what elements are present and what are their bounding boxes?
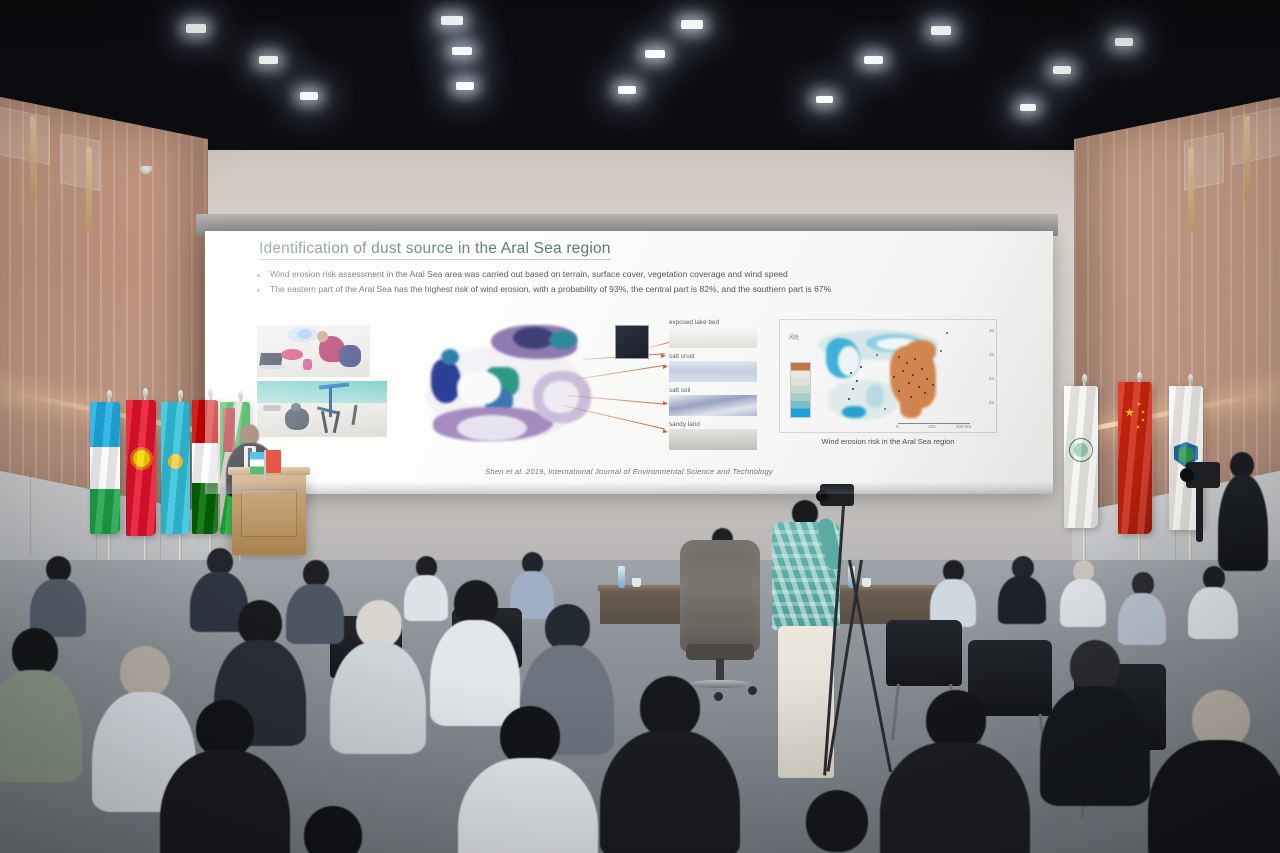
high-risk-zone [906, 340, 936, 362]
map-region [441, 349, 459, 365]
flag-kyrgyzstan [126, 400, 156, 536]
audience-member-foreground [458, 706, 598, 853]
attendee-head [640, 676, 700, 738]
camera-lens-icon [1180, 468, 1194, 482]
dark-sample-swatch [615, 325, 649, 359]
water-bottle [618, 566, 625, 588]
audience-member-foreground [760, 790, 910, 853]
flag-fold-shading [126, 400, 156, 536]
attendee-head [120, 646, 170, 698]
audience-member-foreground [430, 580, 520, 720]
ceiling-light [186, 24, 206, 33]
audience-chair [886, 620, 962, 686]
attendee-torso [1060, 579, 1106, 627]
pointer-arrow-head [663, 401, 668, 405]
audience-member [930, 560, 976, 624]
attendee-torso [1188, 587, 1238, 639]
map-color-legend [790, 362, 811, 418]
photo-detail [285, 408, 309, 430]
attendee-head [1070, 640, 1120, 692]
secondary-site-dot [946, 332, 948, 334]
ceiling-light [816, 96, 833, 103]
aral-sea-classified-map [413, 319, 603, 467]
water-cup [862, 578, 871, 587]
flag-kazakhstan [161, 402, 190, 534]
map-scale-tick: 200 km [956, 424, 971, 429]
sample-image-exposed-lake-bed [669, 327, 757, 348]
ceiling-light [452, 47, 472, 55]
desk-flag-china [266, 450, 281, 473]
flag-tajikistan [192, 400, 218, 534]
attendee-head [12, 628, 58, 676]
pointer-arrow [649, 342, 671, 349]
podium-front-panel [241, 489, 297, 537]
map-caption: Wind erosion risk in the Aral Sea region [779, 437, 997, 446]
wall-inset-panel [60, 133, 100, 191]
audience-member-foreground [0, 628, 82, 778]
gimbal-handle [1196, 486, 1203, 542]
slide-bullet-list: ▪ Wind erosion risk assessment in the Ar… [257, 269, 1017, 299]
map-region [457, 415, 527, 441]
sample-label: exposed lake bed [669, 319, 761, 326]
attendee-head [926, 690, 986, 750]
photo-detail [303, 359, 312, 370]
ceiling-light [1020, 104, 1036, 111]
map-region [431, 359, 461, 403]
flag-fold-shading [192, 400, 218, 534]
wall-decor-rod [1244, 115, 1250, 202]
audience-member [1060, 560, 1106, 624]
ceiling-light [259, 56, 278, 64]
map-water-body [866, 384, 884, 408]
field-photo-sampling [257, 325, 370, 377]
wall-decor-rod [1188, 147, 1194, 232]
flag-china [1118, 382, 1152, 534]
slide-citation: Shen et al. 2019, International Journal … [205, 467, 1053, 476]
videographer-right [1218, 452, 1268, 582]
flag-fold-shading [161, 402, 190, 534]
audience-member-foreground [268, 806, 398, 853]
videographer-torso [1218, 475, 1268, 571]
chair-caster [748, 686, 757, 695]
ceiling-light [1053, 66, 1071, 74]
desk-flag-uzbekistan [250, 452, 264, 474]
wall-seam [30, 470, 31, 556]
flag-fold-shading [1118, 382, 1152, 534]
flag-fold-shading [1064, 386, 1098, 528]
map-legend-title: 风险 [789, 334, 799, 341]
ceiling-light [1115, 38, 1133, 46]
attendee-head [207, 548, 233, 575]
photo-detail [291, 403, 301, 411]
bullet-text: Wind erosion risk assessment in the Aral… [270, 269, 788, 281]
audience-member [998, 556, 1046, 622]
map-region [457, 371, 501, 405]
ceiling-light [931, 26, 951, 35]
pointer-arrow-head [663, 429, 669, 434]
desk-flag-pole [264, 450, 266, 480]
map-water-body [838, 346, 860, 376]
ceiling-light [300, 92, 318, 100]
sample-image-salt-crust [669, 361, 757, 382]
audience-member-foreground [330, 600, 426, 750]
attendee-torso [1040, 686, 1150, 806]
conference-room-scene: Identification of dust source in the Ara… [0, 0, 1280, 853]
bullet-point-icon: ▪ [257, 284, 270, 296]
map-axis-tick: 45 [989, 352, 994, 357]
sample-image-sandy-land [669, 429, 757, 450]
map-scale-tick: 0 [896, 424, 899, 429]
photo-detail [263, 405, 281, 411]
ceiling-light [681, 20, 703, 29]
sample-image-salt-soil [669, 395, 757, 416]
sample-label: salt crust [669, 353, 761, 360]
list-item: ▪ Wind erosion risk assessment in the Ar… [257, 269, 1017, 281]
map-axis-tick: 44 [989, 376, 994, 381]
ceiling-light [456, 82, 474, 90]
audience-member-foreground [600, 676, 740, 853]
soil-sample-strip-group: exposed lake bed salt crust salt soil sa… [669, 319, 761, 455]
attendee-torso [998, 576, 1046, 624]
attendee-torso [0, 670, 82, 782]
list-item: ▪ The eastern part of the Aral Sea has t… [257, 284, 1017, 296]
wind-erosion-risk-map: 风险 46 45 44 43 0 100 200 km [779, 319, 997, 433]
secondary-site-dot [940, 350, 942, 352]
attendee-torso [330, 642, 426, 754]
attendee-head [545, 604, 590, 651]
photo-detail [281, 349, 303, 360]
ceiling-light [864, 56, 883, 64]
audience-member [1188, 566, 1238, 636]
attendee-torso [1148, 740, 1280, 853]
ceiling-light [645, 50, 665, 58]
map-region [549, 331, 577, 349]
water-cup [632, 578, 641, 587]
attendee-head [356, 600, 402, 648]
ceiling-light [618, 86, 636, 94]
pointer-arrow-head [661, 354, 666, 358]
audience-member [30, 556, 86, 634]
attendee-head [303, 560, 329, 587]
map-axis-tick: 46 [989, 328, 994, 333]
sample-label: salt soil [669, 387, 761, 394]
photo-detail [288, 327, 318, 342]
map-axis-tick: 43 [989, 400, 994, 405]
wall-decor-rod [86, 146, 92, 231]
wall-inset-panel [1232, 107, 1280, 165]
ceiling-light [441, 16, 463, 25]
wall-inset-panel [0, 106, 50, 165]
sample-site-dot [860, 366, 862, 368]
photo-detail [339, 345, 361, 367]
bullet-text: The eastern part of the Aral Sea has the… [270, 284, 831, 296]
attendee-head [500, 706, 560, 766]
map-water-body [842, 406, 866, 418]
slide-figure-area: exposed lake bed salt crust salt soil sa… [245, 319, 1015, 469]
chair-backrest [680, 540, 760, 652]
photo-detail [317, 331, 328, 342]
screen-shadow [205, 482, 1053, 494]
attendee-head [806, 790, 868, 852]
audience-member [1118, 572, 1166, 642]
slide-title: Identification of dust source in the Ara… [259, 240, 611, 260]
pointer-arrow-head [663, 364, 669, 369]
map-scale-tick: 100 [928, 424, 936, 429]
wall-decor-rod [30, 115, 36, 202]
sample-label: sandy land [669, 421, 761, 428]
attendee-head [304, 806, 362, 853]
flag-uzbekistan [90, 402, 120, 534]
bullet-point-icon: ▪ [257, 269, 270, 281]
audience-member-foreground [1040, 640, 1150, 800]
flag-institution-logo [1064, 386, 1098, 528]
photo-detail [260, 365, 284, 369]
projection-screen[interactable]: Identification of dust source in the Ara… [205, 231, 1053, 494]
flag-fold-shading [90, 402, 120, 534]
attendee-torso [1118, 593, 1166, 645]
attendee-torso [458, 758, 598, 853]
audience-member-foreground [1148, 690, 1280, 853]
attendee-torso [600, 730, 740, 853]
